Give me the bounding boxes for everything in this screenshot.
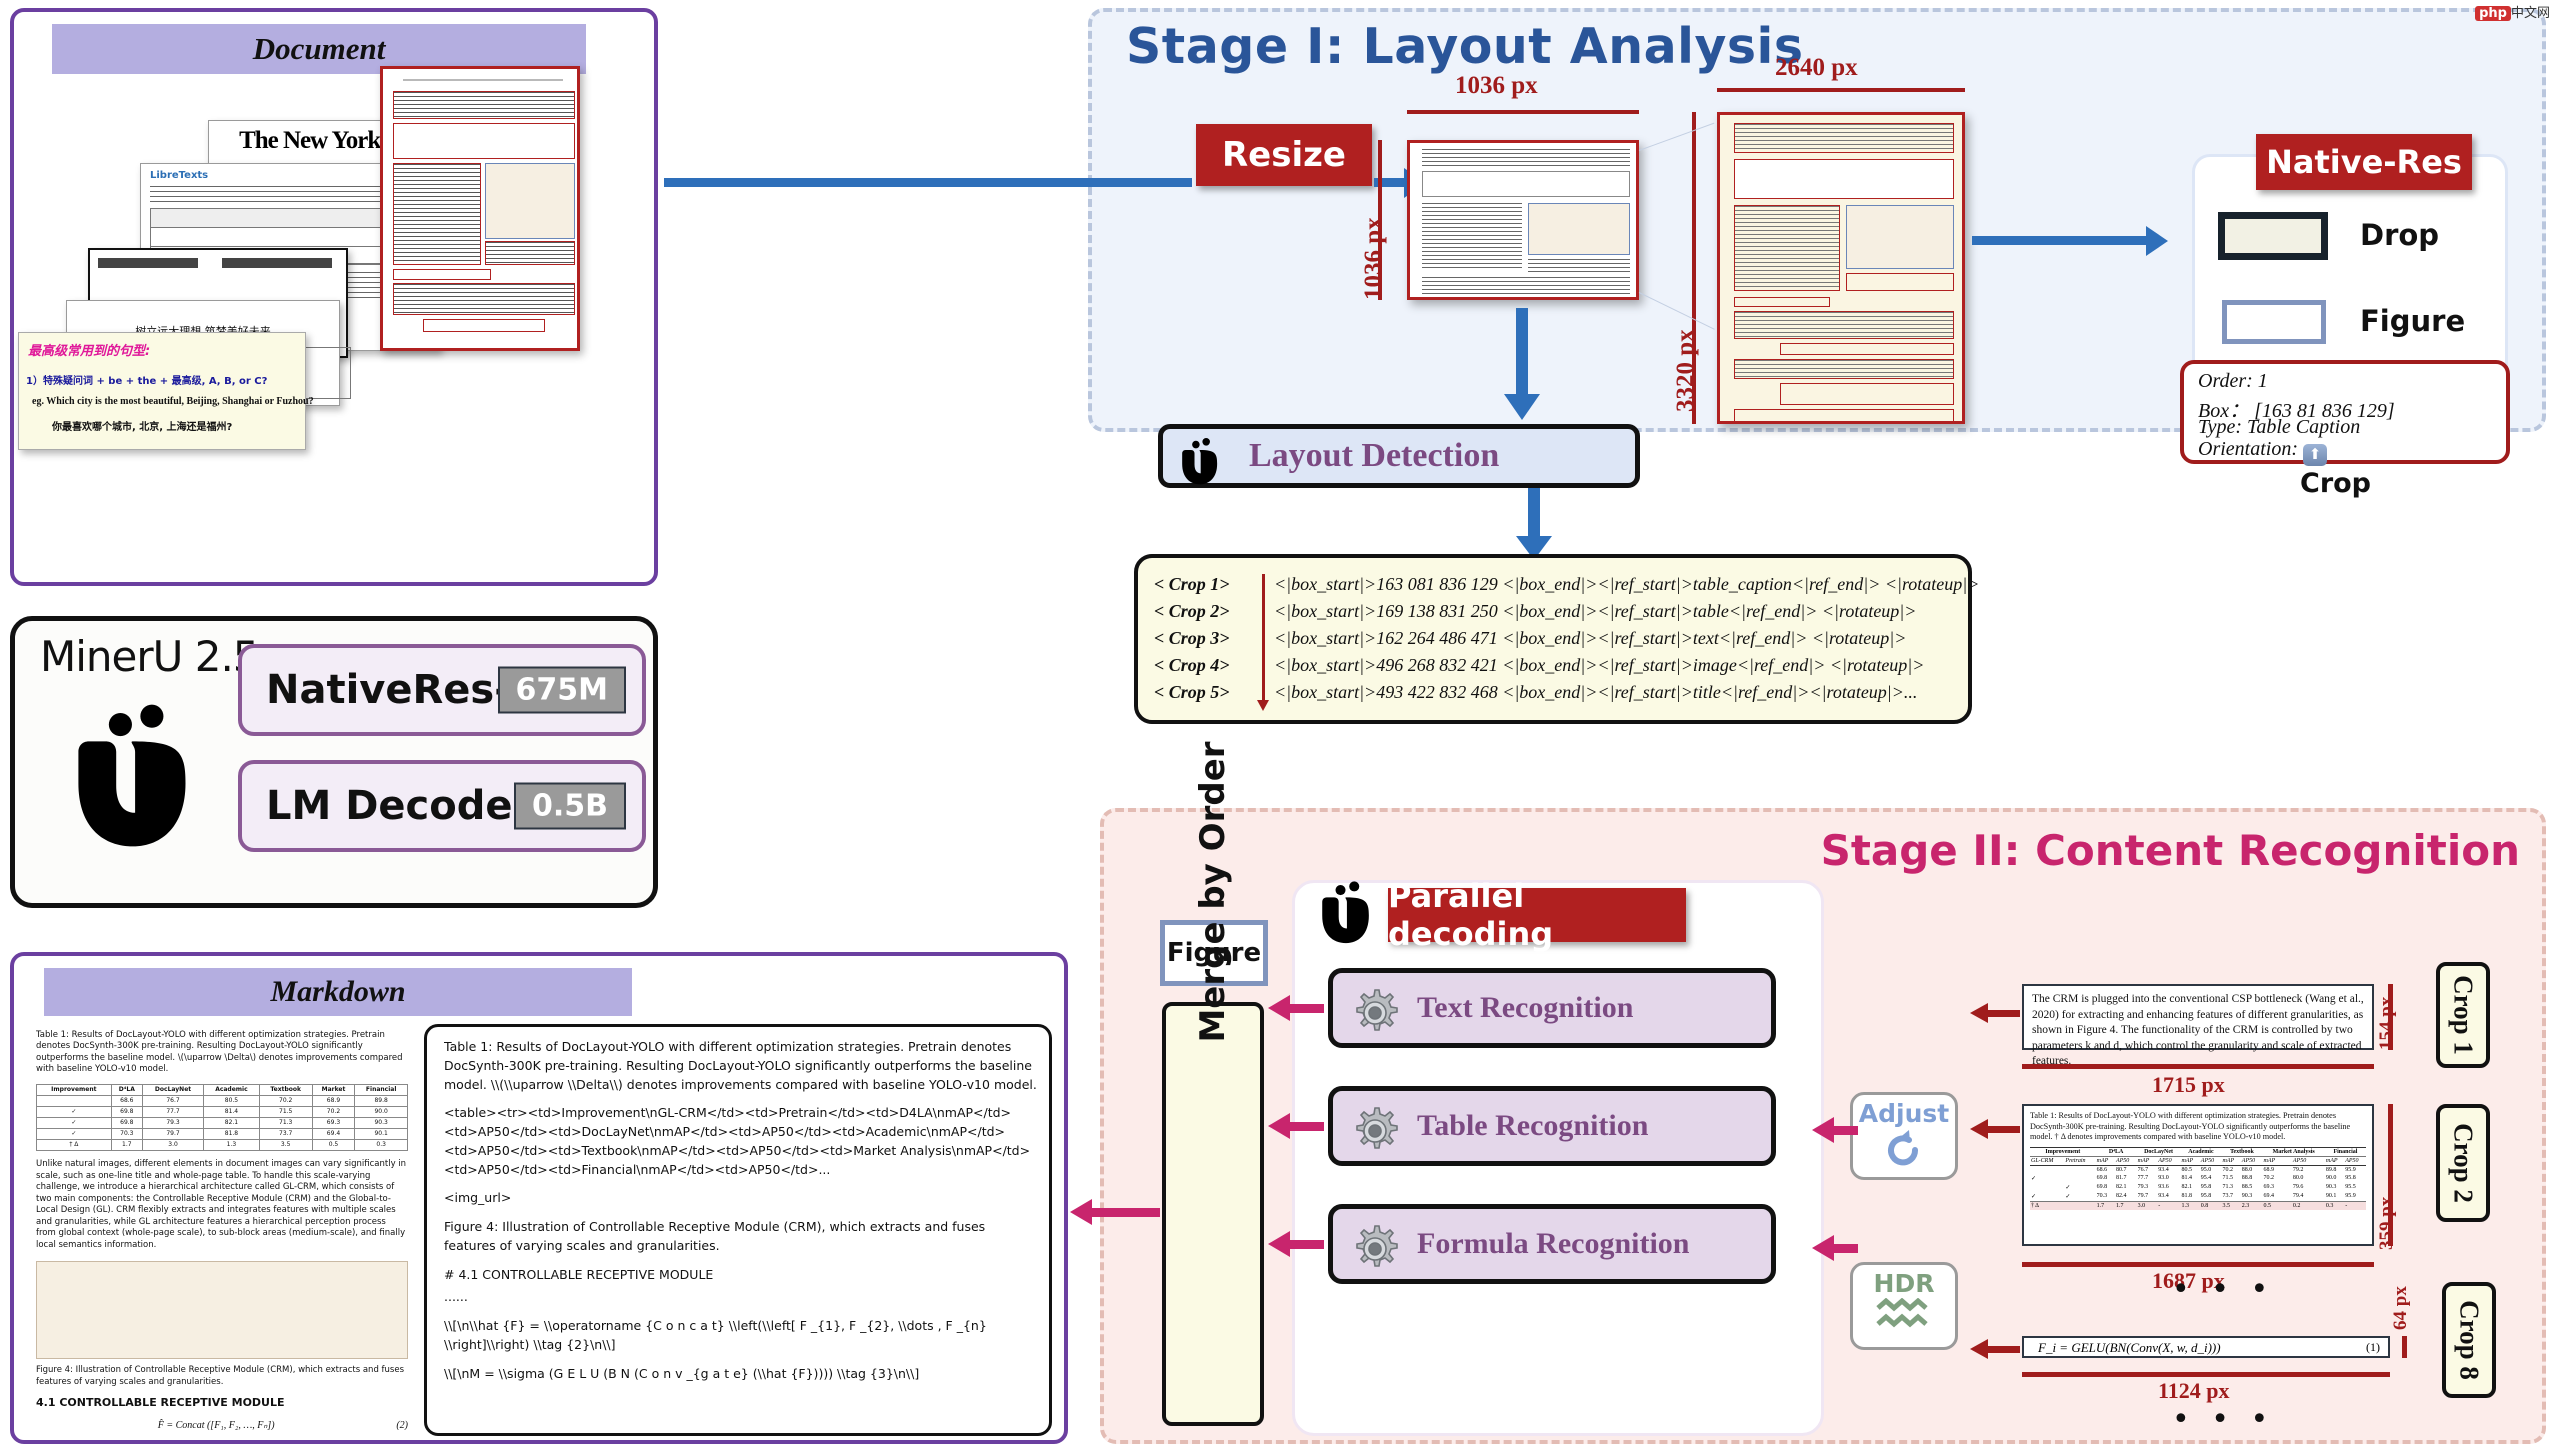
model-param-badge: 675M (498, 667, 626, 714)
markdown-rendered-preview: Table 1: Results of DocLayout-YOLO with … (36, 1030, 408, 1430)
crop-token-text: <|box_start|>163 081 836 129 <|box_end|>… (1274, 574, 1979, 594)
crop-detail-card: Order: 1 Box： [163 81 836 129] Type: Tab… (2180, 360, 2510, 464)
arrow-formula-to-merge (1288, 1240, 1324, 1249)
arrow-merge-to-markdown (1090, 1208, 1160, 1217)
drop-swatch-icon (2218, 212, 2328, 260)
gear-icon (1349, 1223, 1401, 1279)
arrow-adjust-to-table (1832, 1126, 1858, 1135)
native-res-page-preview (1717, 112, 1965, 424)
markdown-block: \\[\n\\hat {F} = \\operatorname {C o n c… (444, 1317, 1040, 1355)
crop-badge-label: Crop 1 (2448, 975, 2479, 1055)
markdown-output-text: Table 1: Results of DocLayout-YOLO with … (444, 1038, 1040, 1424)
legend-label-figure: Figure (2360, 304, 2465, 338)
crop-index-label: < Crop 1> (1154, 574, 1258, 595)
dim-big-width: 2640 px (1775, 54, 1858, 82)
markdown-block: <img_url> (444, 1189, 1040, 1208)
model-component-vit: NativeRes-ViT 675M (238, 644, 646, 736)
preview-eq2-number: (2) (396, 1419, 408, 1430)
crop-2-badge: Crop 2 (2436, 1104, 2490, 1222)
crops-ellipsis: • • • (2172, 1272, 2274, 1307)
arrow-up-icon: ⬆ (2303, 444, 2327, 466)
crop-8-width: 1124 px (2158, 1378, 2230, 1404)
arrow-crop1-to-text (1986, 1010, 2020, 1017)
crop-index-label: < Crop 2> (1154, 601, 1258, 622)
preview-caption: Table 1: Results of DocLayout-YOLO with … (36, 1030, 408, 1076)
waves-icon (1872, 1298, 1936, 1334)
watermark-badge: php (2475, 6, 2511, 21)
adjust-operation[interactable]: Adjust (1850, 1092, 1958, 1180)
mineru-logo-icon (1318, 880, 1374, 948)
crop-2-caption: Table 1: Results of DocLayout-YOLO with … (2030, 1111, 2366, 1143)
task-formula-recognition[interactable]: Formula Recognition (1328, 1204, 1776, 1284)
model-name: MinerU 2.5 (40, 632, 259, 681)
markdown-block: Figure 4: Illustration of Controllable R… (444, 1218, 1040, 1256)
hdr-label: HDR (1853, 1269, 1955, 1298)
crop-orientation-label: Orientation: (2198, 438, 2298, 460)
crop-1-badge: Crop 1 (2436, 962, 2490, 1068)
arrow-head-icon (2146, 226, 2168, 256)
crop-8-formula: F_i = GELU(BN(Conv(X, w, d_i))) (2038, 1340, 2221, 1356)
arrow-detection-to-tokens (1528, 488, 1540, 540)
hdr-operation[interactable]: HDR (1850, 1262, 1958, 1350)
gear-icon (1349, 1105, 1401, 1161)
crop-token-text: <|box_start|>162 264 486 471 <|box_end|>… (1274, 628, 1906, 648)
markdown-block: <table><tr><td>Improvement\nGL-CRM</td><… (444, 1104, 1040, 1179)
crop-token-text: <|box_start|>493 422 832 468 <|box_end|>… (1274, 682, 1917, 702)
figure-swatch-icon (2222, 300, 2326, 344)
page-title-markdown: Markdown (44, 968, 632, 1016)
crop-order: Order: 1 (2198, 370, 2268, 393)
crop-2-height: 359 px (2376, 1197, 2398, 1250)
crop-1-width: 1715 px (2152, 1072, 2225, 1098)
preview-body: Unlike natural images, different element… (36, 1159, 408, 1251)
crop-badge-label: Crop 8 (2454, 1300, 2485, 1380)
stage-1-title: Stage I: Layout Analysis (1126, 18, 1804, 75)
resized-page-preview (1407, 140, 1639, 300)
gear-icon (1349, 987, 1401, 1043)
task-table-recognition[interactable]: Table Recognition (1328, 1086, 1776, 1166)
preview-section: 4.1 CONTROLLABLE RECEPTIVE MODULE (36, 1396, 408, 1411)
rotate-ccw-icon (1881, 1128, 1927, 1168)
model-component-label: LM Decoder (266, 783, 532, 829)
layout-detection-chip[interactable]: Layout Detection (1158, 424, 1640, 488)
native-res-label: Native-Res (2256, 134, 2472, 190)
slide2-line-1: 1）特殊疑问词 + be + the + 最高级, A, B, or C? (26, 372, 267, 387)
crop-1-content: The CRM is plugged into the conventional… (2022, 984, 2374, 1050)
crop-token-text: <|box_start|>169 138 831 250 <|box_end|>… (1274, 601, 1916, 621)
crops-ellipsis-2: • • • (2172, 1402, 2274, 1437)
markdown-block: Table 1: Results of DocLayout-YOLO with … (444, 1038, 1040, 1094)
task-text-recognition[interactable]: Text Recognition (1328, 968, 1776, 1048)
crop-2-table: Improvement D⁴LA DocLayNet Academic Text… (2030, 1147, 2366, 1210)
watermark-text: 中文网 (2511, 6, 2550, 21)
preview-eq2: F̂ = Concat ([F₁, F₂, …, Fₙ]) (158, 1420, 275, 1430)
model-param-badge: 0.5B (514, 783, 626, 830)
dim-small-height: 1036 px (1360, 217, 1388, 300)
stage-2-title: Stage II: Content Recognition (1821, 826, 2520, 875)
arrow-page-to-nativeres (1972, 236, 2152, 245)
slide2-line-3: 你最喜欢哪个城市, 北京, 上海还是福州? (52, 418, 232, 433)
legend-label-drop: Drop (2360, 218, 2439, 252)
merge-by-order-label: Merge by Order (1162, 680, 1264, 1104)
markdown-block: \\[\nM = \\sigma (G E L U (B N (C o n v … (444, 1365, 1040, 1384)
crop-caption: Crop (2300, 468, 2371, 499)
parallel-decoding-label: Parallel decoding (1388, 888, 1686, 942)
crop-index-label: < Crop 3> (1154, 628, 1258, 649)
arrow-crop2-to-table (1986, 1126, 2020, 1133)
arrow-page-to-detection (1516, 308, 1528, 398)
resize-label: Resize (1196, 124, 1372, 186)
slide2-heading: 最高级常用到的句型: (28, 340, 150, 359)
preview-figure-caption: Figure 4: Illustration of Controllable R… (36, 1365, 408, 1388)
arrow-table-to-merge (1288, 1122, 1324, 1131)
arrow-hdr-to-formula (1832, 1244, 1858, 1253)
task-label: Table Recognition (1417, 1109, 1648, 1143)
crop-token-text: <|box_start|>496 268 832 421 <|box_end|>… (1274, 655, 1924, 675)
watermark: php中文网 (2475, 2, 2550, 21)
arrow-head-icon (1504, 394, 1540, 420)
preview-table: ImprovementD⁴LADocLayNetAcademicTextbook… (36, 1084, 408, 1152)
doc-thumbnail-annotated-paper (380, 66, 580, 351)
markdown-block: ...... (444, 1288, 1040, 1307)
slide2-line-2: eg. Which city is the most beautiful, Be… (32, 396, 314, 407)
crop-8-content: F_i = GELU(BN(Conv(X, w, d_i))) (1) (2022, 1336, 2390, 1358)
dim-small-width: 1036 px (1455, 72, 1538, 100)
crop-8-height: 64 px (2390, 1286, 2412, 1330)
crop-type: Type: Table Caption (2198, 416, 2360, 439)
mineru-logo-icon (70, 700, 196, 850)
task-label: Text Recognition (1417, 991, 1633, 1025)
crop-8-badge: Crop 8 (2442, 1282, 2496, 1398)
layout-detection-label: Layout Detection (1249, 437, 1499, 475)
arrow-text-to-merge (1288, 1004, 1324, 1013)
dim-big-height: 3320 px (1672, 329, 1700, 412)
task-label: Formula Recognition (1417, 1227, 1689, 1261)
arrow-crop8-to-formula (1986, 1346, 2020, 1353)
preview-figure (36, 1261, 408, 1359)
markdown-block: # 4.1 CONTROLLABLE RECEPTIVE MODULE (444, 1266, 1040, 1285)
adjust-label: Adjust (1853, 1099, 1955, 1128)
crop-badge-label: Crop 2 (2448, 1123, 2479, 1203)
arrow-document-to-resize (664, 178, 1192, 187)
libretexts-logo: LibreTexts (150, 170, 208, 181)
model-component-decoder: LM Decoder 0.5B (238, 760, 646, 852)
crop-8-formula-number: (1) (2366, 1340, 2380, 1355)
crop-index-label: < Crop 4> (1154, 655, 1258, 676)
crop-1-height: 154 px (2376, 997, 2398, 1050)
mineru-logo-icon (1179, 437, 1221, 489)
crop-2-content: Table 1: Results of DocLayout-YOLO with … (2022, 1104, 2374, 1246)
